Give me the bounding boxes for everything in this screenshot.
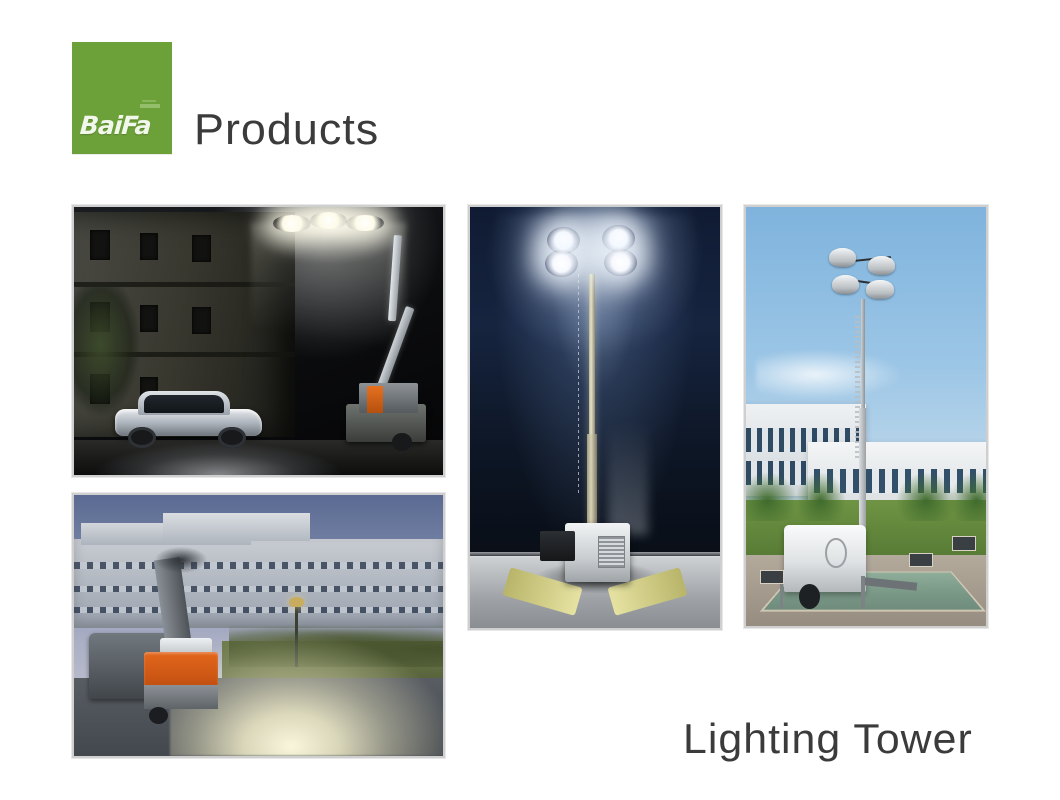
boom-light-tower-trailer bbox=[295, 226, 428, 451]
control-panel-box bbox=[540, 531, 575, 560]
footer-caption: Lighting Tower bbox=[683, 718, 973, 760]
photo-dusk-trailer-light-beam[interactable] bbox=[72, 493, 445, 758]
lamp-cluster bbox=[828, 245, 900, 308]
mast-cable bbox=[578, 274, 579, 493]
photo-dusk-content bbox=[74, 495, 443, 756]
lamp-heads-folded bbox=[155, 547, 207, 573]
ground-marker bbox=[909, 553, 933, 568]
exhaust-plume bbox=[608, 401, 648, 536]
header: BaiFa Products bbox=[72, 42, 376, 154]
photo-daytime-trailer-tower-extended[interactable] bbox=[744, 205, 988, 628]
cloud bbox=[756, 349, 905, 399]
slide-canvas: BaiFa Products bbox=[0, 0, 1060, 800]
stabiliser-jack bbox=[861, 576, 865, 610]
photo-night-suv-towing-boom-light-tower[interactable] bbox=[72, 205, 445, 477]
baifa-logo[interactable]: BaiFa bbox=[72, 42, 172, 154]
shrub bbox=[948, 471, 986, 521]
page-title: Products bbox=[194, 108, 379, 152]
photo-day-tower-content bbox=[746, 207, 986, 626]
trailer-generator-unit bbox=[784, 525, 866, 592]
ground-marker bbox=[952, 536, 976, 551]
shrub bbox=[746, 471, 799, 521]
trademark-icon bbox=[140, 104, 160, 108]
logo-wordmark: BaiFa bbox=[79, 113, 151, 138]
lamp-cluster bbox=[545, 224, 655, 283]
photo-night-suv-content bbox=[74, 207, 443, 475]
orange-trailer-unit bbox=[144, 641, 218, 719]
photo-night-mast-content bbox=[470, 207, 720, 628]
ground-marker bbox=[760, 570, 784, 585]
shrub bbox=[794, 471, 847, 521]
suv-vehicle bbox=[115, 395, 263, 449]
office-buildings bbox=[74, 539, 443, 628]
photo-night-vertical-mast-four-lamps[interactable] bbox=[468, 205, 722, 630]
